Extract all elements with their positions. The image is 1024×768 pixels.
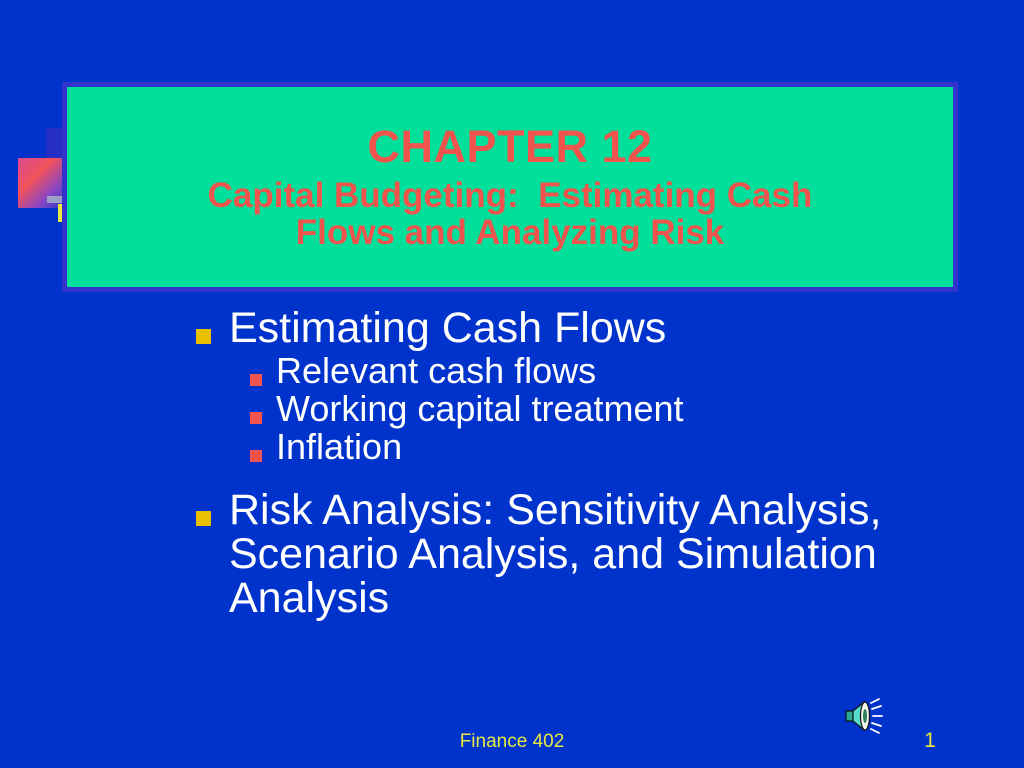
presentation-slide: CHAPTER 12 Capital Budgeting: Estimating… — [0, 0, 1024, 768]
footer-page-number: 1 — [900, 729, 960, 753]
bullet-item-level2: Inflation — [250, 428, 916, 465]
bullet-text: Relevant cash flows — [276, 352, 596, 389]
square-bullet-icon — [250, 450, 262, 462]
bullet-text: Estimating Cash Flows — [229, 306, 666, 350]
slide-body-content: Estimating Cash Flows Relevant cash flow… — [196, 306, 916, 622]
slide-title-line-3: Flows and Analyzing Risk — [296, 214, 725, 251]
bullet-item-level1: Risk Analysis: Sensitivity Analysis, Sce… — [196, 488, 916, 621]
bullet-text: Inflation — [276, 428, 402, 465]
square-bullet-icon — [250, 412, 262, 424]
square-bullet-icon — [196, 511, 211, 526]
footer-course-label: Finance 402 — [0, 731, 1024, 753]
bullet-item-level2: Working capital treatment — [250, 390, 916, 427]
bullet-group-risk-analysis: Risk Analysis: Sensitivity Analysis, Sce… — [196, 488, 916, 621]
slide-title-box: CHAPTER 12 Capital Budgeting: Estimating… — [62, 82, 958, 292]
bullet-group-estimating-cash-flows: Estimating Cash Flows Relevant cash flow… — [196, 306, 916, 466]
square-bullet-icon — [196, 329, 211, 344]
bullet-text: Risk Analysis: Sensitivity Analysis, Sce… — [229, 488, 916, 621]
speaker-icon[interactable] — [840, 696, 892, 736]
slide-title-line-2: Capital Budgeting: Estimating Cash — [208, 177, 813, 214]
square-bullet-icon — [250, 374, 262, 386]
bullet-text: Working capital treatment — [276, 390, 684, 427]
bullet-item-level1: Estimating Cash Flows — [196, 306, 916, 350]
bullet-item-level2: Relevant cash flows — [250, 352, 916, 389]
slide-title-line-1: CHAPTER 12 — [367, 123, 652, 171]
